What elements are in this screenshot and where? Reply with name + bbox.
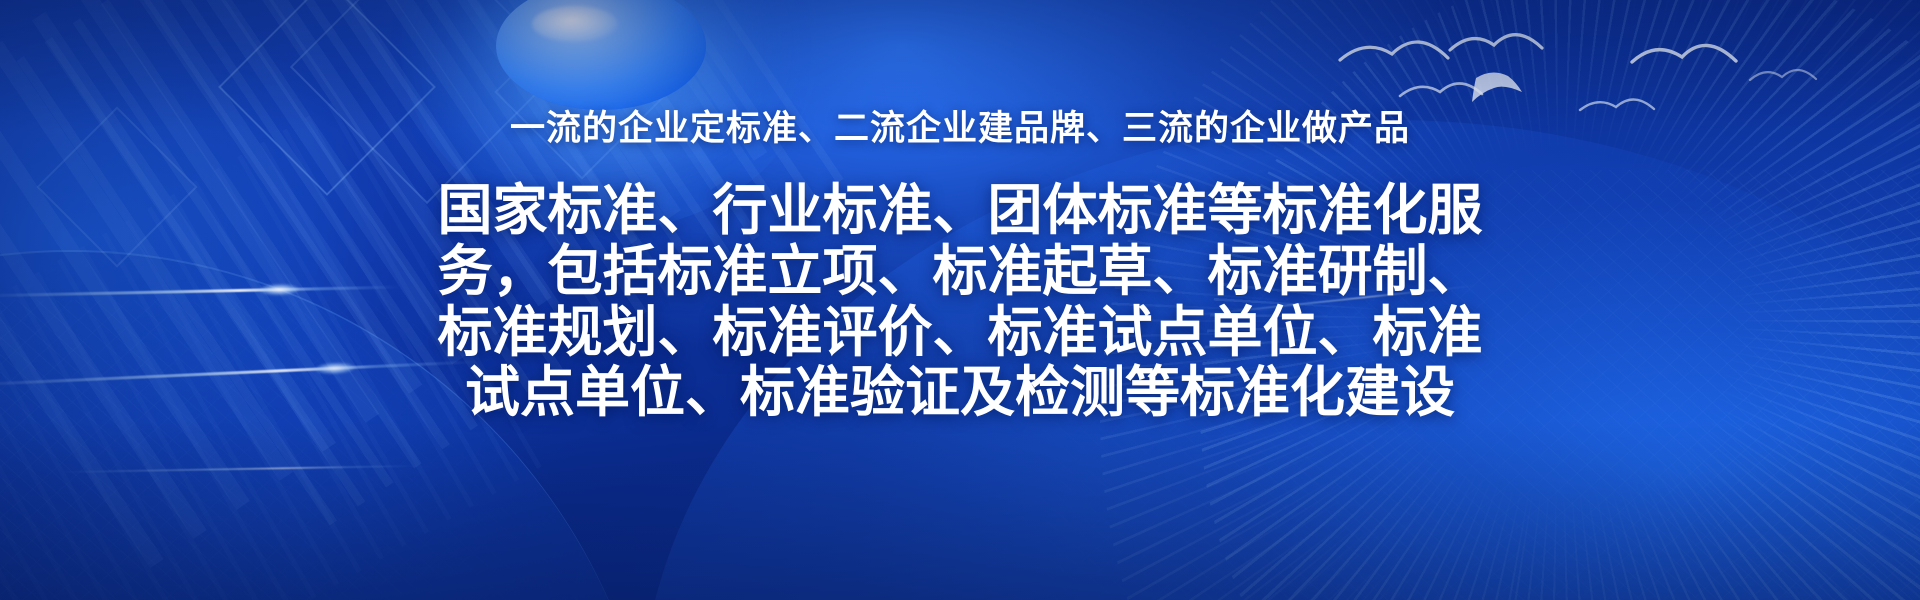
promo-banner: 一流的企业定标准、二流企业建品牌、三流的企业做产品 国家标准、行业标准、团体标准… — [0, 0, 1920, 600]
headline-line-1: 国家标准、行业标准、团体标准等标准化服 — [430, 180, 1490, 241]
headline-line-3: 标准规划、标准评价、标准试点单位、标准 — [430, 302, 1490, 363]
headline-line-4: 试点单位、标准验证及检测等标准化建设 — [430, 362, 1490, 423]
banner-content: 一流的企业定标准、二流企业建品牌、三流的企业做产品 国家标准、行业标准、团体标准… — [0, 0, 1920, 600]
banner-headline: 国家标准、行业标准、团体标准等标准化服 务，包括标准立项、标准起草、标准研制、 … — [430, 180, 1490, 423]
banner-tagline: 一流的企业定标准、二流企业建品牌、三流的企业做产品 — [510, 112, 1410, 147]
headline-line-2: 务，包括标准立项、标准起草、标准研制、 — [430, 241, 1490, 302]
